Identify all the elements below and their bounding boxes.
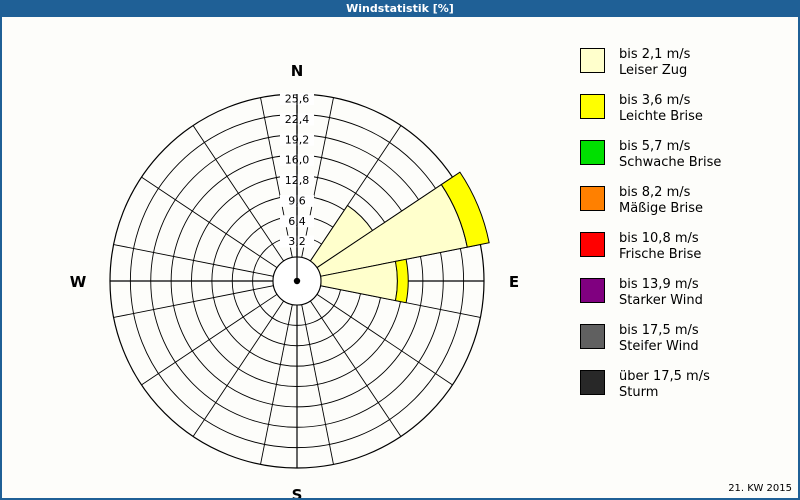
legend-item: bis 10,8 m/sFrische Brise	[580, 231, 796, 270]
legend-label: bis 17,5 m/sSteifer Wind	[619, 323, 699, 355]
legend-item: über 17,5 m/sSturm	[580, 369, 796, 408]
legend-speed: bis 8,2 m/s	[619, 185, 690, 200]
legend-item: bis 17,5 m/sSteifer Wind	[580, 323, 796, 362]
legend-name: Mäßige Brise	[619, 201, 703, 217]
legend-item: bis 13,9 m/sStarker Wind	[580, 277, 796, 316]
legend-name: Schwache Brise	[619, 155, 721, 171]
legend-speed: bis 10,8 m/s	[619, 231, 699, 246]
legend-speed: über 17,5 m/s	[619, 369, 710, 384]
footer-timestamp: 21. KW 2015	[728, 483, 792, 494]
legend-name: Frische Brise	[619, 247, 701, 263]
compass-label-east: E	[509, 273, 519, 291]
legend-color-swatch	[580, 48, 605, 73]
compass-label-south: S	[292, 486, 303, 498]
legend-label: bis 5,7 m/sSchwache Brise	[619, 139, 721, 171]
legend-speed: bis 3,6 m/s	[619, 93, 690, 108]
legend-label: bis 10,8 m/sFrische Brise	[619, 231, 701, 263]
window-content: 3,26,49,612,816,019,222,425,6 NESW bis 2…	[2, 17, 798, 498]
compass-label-west: W	[70, 273, 87, 291]
legend-label: über 17,5 m/sSturm	[619, 369, 710, 401]
legend-label: bis 2,1 m/sLeiser Zug	[619, 47, 690, 79]
legend-label: bis 13,9 m/sStarker Wind	[619, 277, 703, 309]
wind-rose-svg: 3,26,49,612,816,019,222,425,6 NESW	[2, 17, 574, 498]
legend-label: bis 8,2 m/sMäßige Brise	[619, 185, 703, 217]
legend-name: Leiser Zug	[619, 63, 690, 79]
legend-color-swatch	[580, 186, 605, 211]
wind-rose-chart: 3,26,49,612,816,019,222,425,6 NESW	[2, 17, 574, 498]
legend-label: bis 3,6 m/sLeichte Brise	[619, 93, 703, 125]
window-title: Windstatistik [%]	[346, 2, 454, 15]
legend-color-swatch	[580, 140, 605, 165]
legend-name: Steifer Wind	[619, 339, 699, 355]
window-title-bar: Windstatistik [%]	[0, 0, 800, 17]
radial-tick-labels: 3,26,49,612,816,019,222,425,6	[280, 93, 314, 282]
wind-rose-sectors	[310, 172, 489, 303]
legend-color-swatch	[580, 278, 605, 303]
legend-item: bis 2,1 m/sLeiser Zug	[580, 47, 796, 86]
legend-item: bis 5,7 m/sSchwache Brise	[580, 139, 796, 178]
legend-speed: bis 17,5 m/s	[619, 323, 699, 338]
legend-name: Leichte Brise	[619, 109, 703, 125]
legend-color-swatch	[580, 370, 605, 395]
legend-speed: bis 2,1 m/s	[619, 47, 690, 62]
legend-color-swatch	[580, 232, 605, 257]
legend-name: Starker Wind	[619, 293, 703, 309]
legend-item: bis 3,6 m/sLeichte Brise	[580, 93, 796, 132]
wind-statistics-window: Windstatistik [%] 3,26,49,612,816,019,22…	[0, 0, 800, 500]
legend: bis 2,1 m/sLeiser Zugbis 3,6 m/sLeichte …	[580, 47, 796, 415]
legend-item: bis 8,2 m/sMäßige Brise	[580, 185, 796, 224]
legend-name: Sturm	[619, 385, 710, 401]
legend-speed: bis 5,7 m/s	[619, 139, 690, 154]
compass-label-north: N	[291, 62, 304, 80]
wind-rose-sector	[395, 259, 408, 302]
legend-color-swatch	[580, 324, 605, 349]
legend-speed: bis 13,9 m/s	[619, 277, 699, 292]
legend-color-swatch	[580, 94, 605, 119]
